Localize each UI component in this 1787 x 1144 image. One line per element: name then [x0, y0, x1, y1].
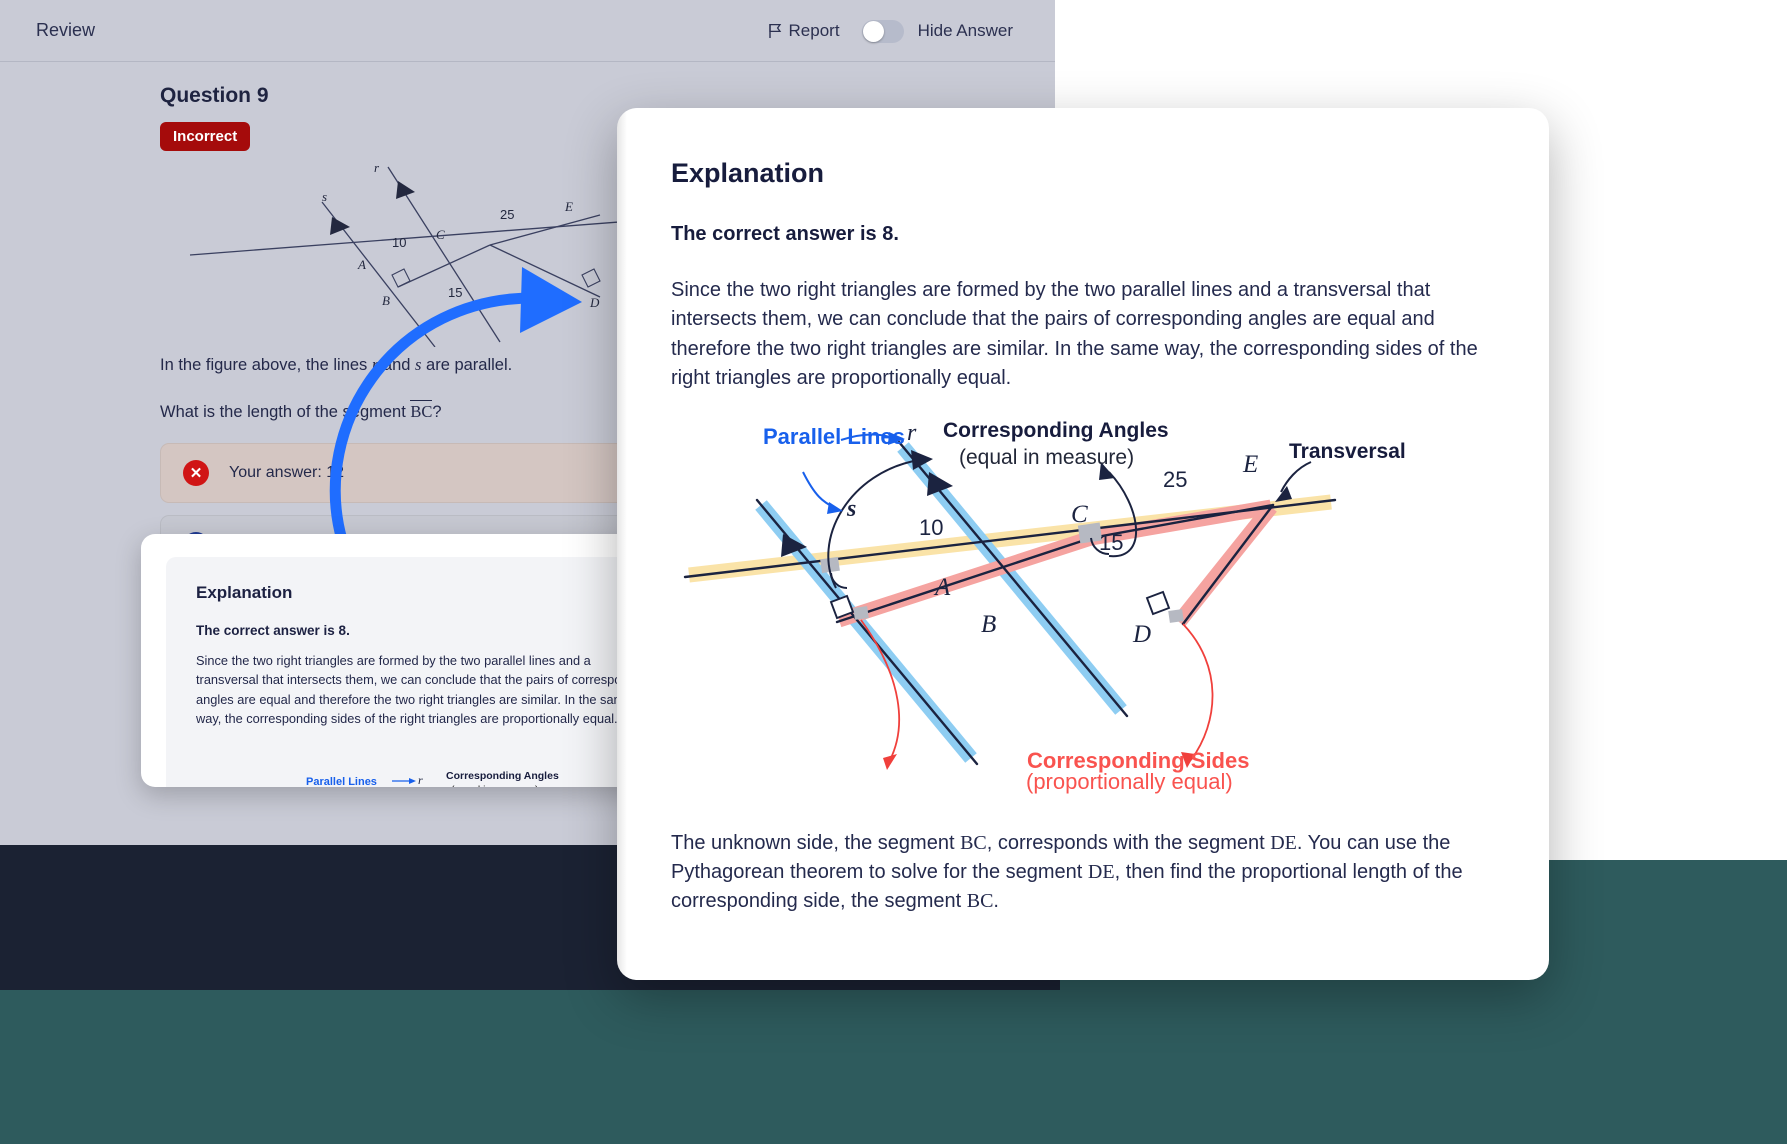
modal-p2-de: DE — [1270, 832, 1297, 854]
diagram-point-D: D — [1132, 621, 1151, 648]
diagram-point-E: E — [1242, 451, 1258, 478]
modal-p2-a: The unknown side, the segment — [671, 832, 960, 854]
prompt2-segment: BC — [410, 400, 432, 421]
diagram-len-25: 25 — [1163, 467, 1187, 492]
diagram-label-corresponding-angles-sub: (equal in measure) — [959, 446, 1134, 469]
modal-p2-bc: BC — [960, 832, 987, 854]
modal-p2-de2: DE — [1088, 861, 1115, 883]
page-title: Review — [36, 20, 95, 41]
flag-icon — [769, 23, 782, 39]
diagram-point-C: C — [1071, 501, 1088, 528]
figure-label-E: E — [564, 199, 573, 214]
mini-label-corresponding-angles-sub: (equal in measure) — [451, 784, 539, 787]
mini-label-r: r — [418, 773, 423, 787]
figure-label-C: C — [436, 227, 445, 242]
your-answer-label: Your answer: 12 — [229, 464, 344, 482]
modal-p2-bc2: BC — [967, 890, 994, 912]
diagram-label-corresponding-sides-sub: (proportionally equal) — [1026, 769, 1549, 795]
figure-label-A: A — [357, 257, 366, 272]
report-button[interactable]: Report — [769, 21, 840, 41]
diagram-label-s: s — [846, 496, 856, 522]
report-label: Report — [789, 21, 840, 41]
prompt-text-a: In the figure above, the lines — [160, 356, 372, 374]
figure-len-25: 25 — [500, 207, 514, 222]
status-badge: Incorrect — [160, 122, 250, 151]
hide-answer-toggle[interactable] — [862, 20, 904, 43]
mini-label-corresponding-angles: Corresponding Angles — [446, 770, 559, 782]
prompt-text-c: are parallel. — [421, 356, 512, 374]
mini-label-parallel-lines: Parallel Lines — [306, 776, 377, 787]
explanation-modal: Explanation The correct answer is 8. Sin… — [617, 108, 1549, 980]
prompt-text-b: and — [378, 356, 415, 374]
modal-paragraph-1: Since the two right triangles are formed… — [671, 276, 1495, 394]
modal-heading: Explanation — [671, 158, 1495, 189]
modal-edge-shadow — [617, 108, 627, 980]
figure-label-r: r — [374, 160, 380, 175]
modal-correct-answer: The correct answer is 8. — [671, 223, 1495, 246]
modal-paragraph-2: The unknown side, the segment BC, corres… — [671, 829, 1495, 917]
geometry-diagram: Parallel Lines r s Corresponding Angles … — [671, 410, 1495, 811]
modal-p2-e: . — [993, 890, 999, 912]
figure-len-10: 10 — [392, 235, 406, 250]
screenshot-root: Review Report Hide Answer — [0, 0, 1787, 1144]
diagram-len-15: 15 — [1099, 530, 1123, 555]
hide-answer-label: Hide Answer — [918, 21, 1013, 41]
diagram-label-transversal: Transversal — [1289, 440, 1406, 463]
diagram-label-parallel-lines: Parallel Lines — [763, 424, 905, 449]
question-number: Question 9 — [160, 84, 1055, 108]
figure-len-15: 15 — [448, 285, 462, 300]
modal-content: Explanation The correct answer is 8. Sin… — [617, 108, 1549, 917]
figure-label-s: s — [322, 189, 327, 204]
diagram-label-corresponding-angles: Corresponding Angles — [943, 419, 1169, 442]
figure-label-D: D — [589, 295, 600, 310]
diagram-len-10: 10 — [919, 515, 943, 540]
prompt2-text-a: What is the length of the segment — [160, 403, 410, 421]
prompt2-text-b: ? — [432, 403, 441, 421]
diagram-point-A: A — [933, 574, 951, 601]
modal-p2-b: , corresponds with the segment — [987, 832, 1270, 854]
diagram-label-r: r — [907, 420, 917, 446]
x-circle-icon: ✕ — [183, 460, 209, 486]
topbar-actions: Report Hide Answer — [769, 0, 1013, 62]
background-explanation-paragraph: Since the two right triangles are formed… — [196, 651, 656, 729]
review-topbar: Review Report Hide Answer — [0, 0, 1055, 62]
toggle-knob — [863, 21, 884, 42]
diagram-point-B: B — [981, 611, 996, 638]
figure-label-B: B — [382, 293, 390, 308]
